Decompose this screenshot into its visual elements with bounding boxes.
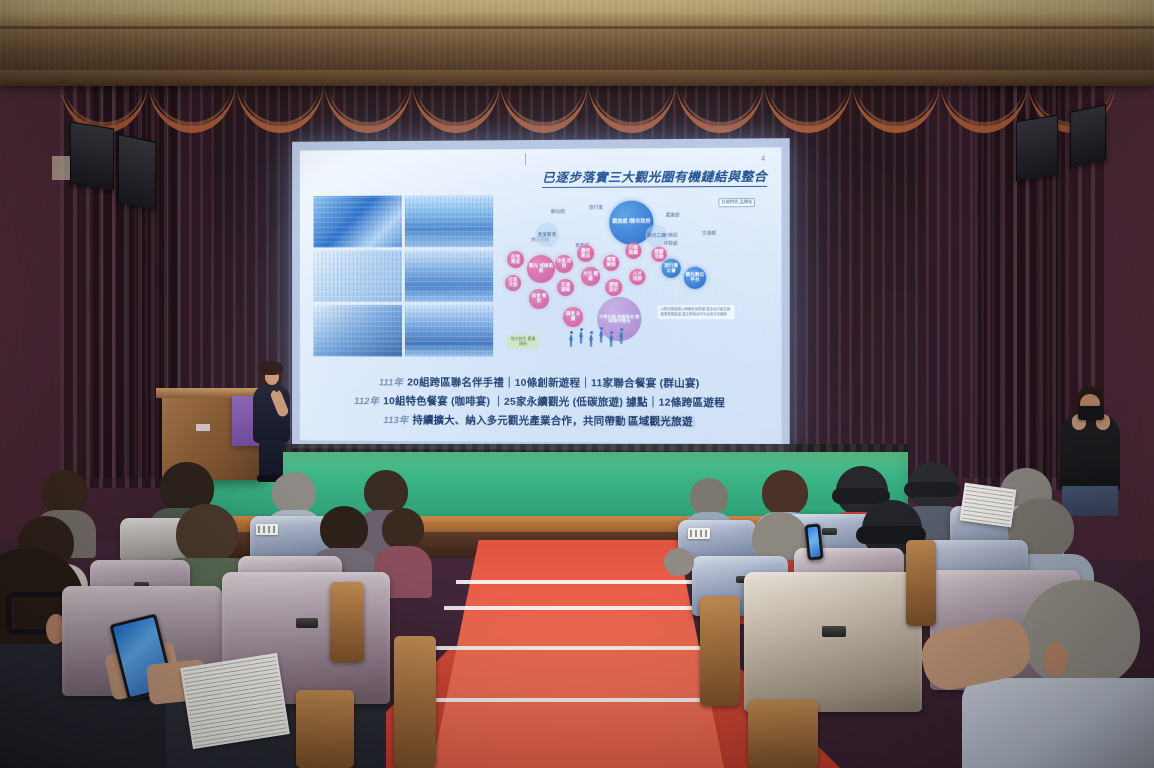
diagram-note-box: 以觀光圈為核心串聯在地資源 整合地方創生與產業發展能量 建立跨域合作平台與共享機… xyxy=(658,305,735,319)
seat[interactable] xyxy=(744,572,922,712)
aisle-step-nosing xyxy=(456,580,700,584)
seat-reserved-tag xyxy=(688,528,710,539)
armrest xyxy=(296,690,354,768)
ceiling-speaker-icon xyxy=(1016,115,1058,182)
armrest xyxy=(700,596,740,706)
armrest xyxy=(906,540,936,626)
ceiling-speaker-icon xyxy=(1070,104,1106,168)
slide-line-113: 113年持續擴大、納入多元觀光產業合作，共同帶動區域觀光旅遊 xyxy=(300,412,782,430)
attendee-head xyxy=(762,470,808,516)
diagram-green-box: 地方創生 產業鏈結 xyxy=(507,335,539,349)
attendee-body xyxy=(962,678,1154,768)
attendee-head xyxy=(272,472,316,514)
armrest xyxy=(748,700,818,768)
collage-photo-stationery xyxy=(314,250,402,302)
diagram-node-pink: 文化 體驗 xyxy=(581,267,600,286)
seat-clip xyxy=(296,618,318,628)
photographer-jeans xyxy=(1062,486,1118,516)
podium-plate xyxy=(196,424,210,431)
diagram-node-pink: 住宿 旅宿 xyxy=(555,255,573,273)
diagram-people-figures xyxy=(567,321,631,347)
diagram-node-ghost: 觀光工廠 xyxy=(645,225,667,247)
collage-photo-banquet xyxy=(404,250,493,302)
slide-page-number: 4 xyxy=(761,156,765,163)
attendee-head xyxy=(690,478,728,516)
diagram-node-pink: 交通 運輸 xyxy=(557,279,574,296)
slide-line-year: 112年 xyxy=(354,396,379,407)
diagram-ghost-label: 農業部 xyxy=(666,212,680,218)
collage-photo-gift-box xyxy=(314,196,402,248)
slide-tick-mark xyxy=(525,153,526,165)
presenter xyxy=(246,362,298,482)
baseball-cap-icon xyxy=(904,482,960,497)
diagram-node-pink: 美食 餐飲 xyxy=(529,289,549,309)
armrest xyxy=(394,636,436,768)
diagram-node-pink: 在地 業者 xyxy=(507,251,524,268)
diagram-ghost-label: 交通部 xyxy=(702,230,716,236)
diagram-node-pink: 遊程 設計 xyxy=(605,279,622,296)
slide-line-year: 111年 xyxy=(379,377,403,388)
diagram-node-blue: 觀光數位 平台 xyxy=(684,267,706,289)
aisle-step-nosing xyxy=(444,606,712,610)
diagram-node-blue: 旅行業 公會 xyxy=(662,259,681,278)
diagram-node-pink: 導覽 解說 xyxy=(603,255,619,271)
attendee-head xyxy=(176,504,238,564)
slide-line-text: 持續擴大、納入多元觀光產業合作，共同帶動 xyxy=(412,414,625,427)
armrest xyxy=(330,582,364,662)
attendee-head xyxy=(1022,580,1140,688)
attendee-head xyxy=(664,548,694,576)
collage-photo-conference-hall xyxy=(404,195,493,247)
slide-bullet-lines: 111年20組跨區聯名伴手禮｜10條創新遊程｜11家聯合餐宴 (群山宴) 112… xyxy=(300,370,782,433)
slide-line-111: 111年20組跨區聯名伴手禮｜10條創新遊程｜11家聯合餐宴 (群山宴) xyxy=(300,374,782,391)
presenter-legs xyxy=(259,440,283,480)
diagram-node-pink: 農特 產品 xyxy=(577,245,594,262)
slide-line-text: 20組跨區聯名伴手禮｜10條創新遊程｜11家聯合餐宴 (群山宴) xyxy=(407,377,699,390)
slide-line-year: 113年 xyxy=(383,415,408,426)
ceiling-speaker-icon xyxy=(70,122,114,191)
seat-reserved-tag xyxy=(256,524,278,535)
collage-photo-booth xyxy=(314,305,402,357)
proscenium-beam-lip xyxy=(0,70,1154,86)
collage-photo-ceremony xyxy=(404,305,493,357)
curtain-valance xyxy=(60,80,1100,140)
presenter-hair xyxy=(259,361,283,375)
handout-paper[interactable] xyxy=(960,483,1017,528)
diagram-node-pink: 人才 培訓 xyxy=(629,269,645,285)
camera-icon xyxy=(1078,406,1104,420)
wall-fixture xyxy=(52,156,70,180)
diagram-node-ghost: 產業聚落 xyxy=(535,223,559,247)
diagram-tag-box: 在地特色 品牌化 xyxy=(718,198,755,207)
diagram-node-pink: 觀光 城鎮風貌 xyxy=(527,255,555,283)
projection-screen: 4 已逐步落實三大觀光圈有機鏈結與整合 觀光圈 旅行業 地方組織 青年部 農業部… xyxy=(292,138,790,452)
diagram-ghost-label: 觀光圈 xyxy=(551,209,565,215)
attendee-head xyxy=(382,508,424,550)
photographer-body xyxy=(1060,413,1120,491)
slide-photo-collage xyxy=(314,195,494,357)
diagram-ghost-label: 旅行業 xyxy=(589,205,603,211)
diagram-node-pink: 行銷 推廣 xyxy=(625,243,641,259)
slide-line-highlight: 區域觀光旅遊 xyxy=(626,415,695,427)
ceiling-speaker-icon xyxy=(118,134,156,210)
seat-clip xyxy=(822,626,846,637)
aisle-step-nosing xyxy=(432,646,724,650)
auditorium-presentation-photo: 4 已逐步落實三大觀光圈有機鏈結與整合 觀光圈 旅行業 地方組織 青年部 農業部… xyxy=(0,0,1154,768)
handout-paper[interactable] xyxy=(180,653,290,749)
slide-title: 已逐步落實三大觀光圈有機鏈結與整合 xyxy=(542,166,767,188)
diagram-node-pink: 節慶 活動 xyxy=(651,247,666,262)
attendee-ear xyxy=(1044,642,1068,676)
attendee-head xyxy=(320,506,368,552)
slide-network-diagram: 觀光圈 旅行業 地方組織 青年部 農業部 林務局 林管處 交通部 觀旅處 /縣市… xyxy=(505,192,769,366)
slide-line-112: 112年10組特色餐宴 (咖啡宴) ｜25家永續觀光 (低碳旅遊) 據點｜12條… xyxy=(300,393,782,410)
photographer xyxy=(1056,386,1126,516)
aisle-step-nosing xyxy=(418,698,738,702)
presentation-slide: 4 已逐步落實三大觀光圈有機鏈結與整合 觀光圈 旅行業 地方組織 青年部 農業部… xyxy=(300,147,782,443)
seat-clip xyxy=(822,528,837,535)
diagram-node-pink: 社區 文創 xyxy=(505,275,521,291)
slide-line-text: 10組特色餐宴 (咖啡宴) ｜25家永續觀光 (低碳旅遊) 據點｜12條跨區遊程 xyxy=(383,395,725,409)
